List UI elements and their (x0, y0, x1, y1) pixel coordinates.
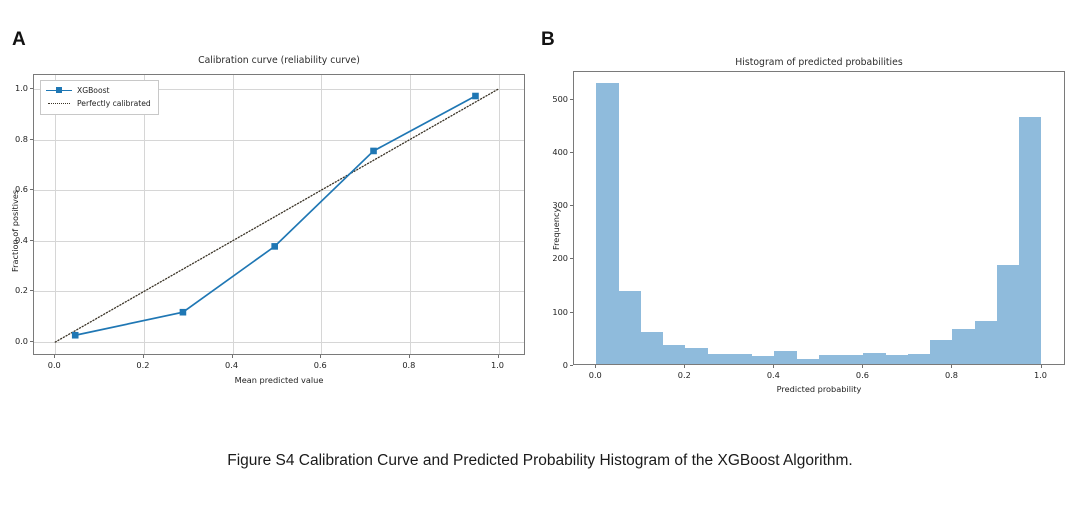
legend-label-perfectly-calibrated: Perfectly calibrated (77, 99, 151, 108)
histogram-bar-1 (619, 291, 641, 364)
histogram-bar-12 (863, 353, 885, 364)
panel-a-ytick-label-4: 0.8 (0, 134, 28, 144)
panel-a-ytick-label-1: 0.2 (0, 285, 28, 295)
panel-b-ytick-label-4: 400 (508, 147, 568, 157)
panel-b-xtick-label-1: 0.2 (654, 370, 714, 380)
reference-diagonal-line (55, 89, 498, 342)
panel-b-x-axis-label: Predicted probability (573, 384, 1065, 394)
panel-a-ytick-label-5: 1.0 (0, 83, 28, 93)
histogram-bar-18 (997, 265, 1019, 364)
panel-a-ytick-label-0: 0.0 (0, 336, 28, 346)
panel-b-ytick-label-2: 200 (508, 253, 568, 263)
xgboost-data-point-2 (271, 243, 278, 250)
panel-b-bars (574, 72, 1064, 364)
panel-a-xtick-mark-4 (409, 355, 410, 358)
panel-b-ytick-label-5: 500 (508, 94, 568, 104)
panel-b-ytick-mark-5 (570, 99, 573, 100)
legend-entry-perfectly-calibrated: Perfectly calibrated (46, 97, 151, 110)
panel-a-plot-area: XGBoost Perfectly calibrated (33, 74, 525, 355)
panel-a-xtick-mark-0 (54, 355, 55, 358)
histogram-bar-0 (596, 83, 618, 364)
legend-entry-xgboost: XGBoost (46, 84, 151, 97)
panel-label-a: A (12, 29, 26, 51)
panel-a-ytick-mark-2 (30, 240, 33, 241)
panel-b-ytick-mark-1 (570, 312, 573, 313)
legend-key-dotted-line-icon (46, 99, 72, 109)
panel-b-ytick-mark-0 (570, 365, 573, 366)
legend-key-line-marker-icon (46, 86, 72, 96)
panel-b-ytick-mark-3 (570, 205, 573, 206)
panel-a-xtick-mark-3 (320, 355, 321, 358)
panel-a-ytick-mark-1 (30, 290, 33, 291)
histogram-bar-5 (708, 354, 730, 364)
panel-b-xtick-label-4: 0.8 (921, 370, 981, 380)
histogram-bar-11 (841, 355, 863, 364)
panel-b-xtick-label-5: 1.0 (1011, 370, 1071, 380)
figure-root: A Calibration curve (reliability curve) … (0, 0, 1080, 507)
panel-a-legend: XGBoost Perfectly calibrated (40, 80, 159, 115)
panel-b-xtick-mark-2 (773, 365, 774, 368)
panel-b-xtick-mark-5 (1041, 365, 1042, 368)
panel-b-xtick-mark-3 (862, 365, 863, 368)
histogram-bar-10 (819, 355, 841, 364)
panel-a-xtick-label-4: 0.8 (379, 360, 439, 370)
panel-b-xtick-label-2: 0.4 (743, 370, 803, 380)
panel-b-ytick-mark-2 (570, 258, 573, 259)
xgboost-data-point-4 (472, 93, 479, 100)
panel-b-ytick-label-3: 300 (508, 200, 568, 210)
panel-b-xtick-label-3: 0.6 (832, 370, 892, 380)
panel-b-ytick-mark-4 (570, 152, 573, 153)
panel-a-title: Calibration curve (reliability curve) (33, 55, 525, 66)
panel-a-ytick-label-3: 0.6 (0, 184, 28, 194)
histogram-bar-14 (908, 354, 930, 364)
histogram-bar-7 (752, 356, 774, 364)
histogram-bar-6 (730, 354, 752, 364)
xgboost-data-point-1 (180, 309, 187, 316)
histogram-bar-9 (797, 359, 819, 364)
panel-a-ytick-mark-5 (30, 88, 33, 89)
histogram-bar-8 (774, 351, 796, 364)
panel-a-curves (34, 75, 526, 356)
panel-a-ytick-label-2: 0.4 (0, 235, 28, 245)
histogram-bar-3 (663, 345, 685, 364)
figure-caption: Figure S4 Calibration Curve and Predicte… (0, 452, 1080, 470)
panel-b-xtick-label-0: 0.0 (565, 370, 625, 380)
histogram-bar-2 (641, 332, 663, 364)
histogram-bar-15 (930, 340, 952, 364)
histogram-bar-16 (952, 329, 974, 364)
panel-b-ytick-label-1: 100 (508, 307, 568, 317)
panel-b-xtick-mark-4 (951, 365, 952, 368)
panel-b-title: Histogram of predicted probabilities (573, 57, 1065, 68)
panel-a-xtick-label-3: 0.6 (290, 360, 350, 370)
histogram-bar-13 (886, 355, 908, 364)
panel-a-x-axis-label: Mean predicted value (33, 375, 525, 385)
panel-a-xtick-mark-5 (498, 355, 499, 358)
panel-a-ytick-mark-4 (30, 139, 33, 140)
panel-b-y-axis-label: Frequency (551, 208, 561, 250)
panel-a-ytick-mark-3 (30, 189, 33, 190)
panel-a-xtick-label-0: 0.0 (24, 360, 84, 370)
xgboost-calibration-line (75, 96, 475, 335)
panel-b-ytick-label-0: 0 (508, 360, 568, 370)
panel-a-y-axis-label: Fraction of positives (10, 190, 20, 272)
xgboost-data-point-0 (72, 332, 79, 339)
panel-label-b: B (541, 29, 555, 51)
xgboost-data-point-3 (370, 148, 377, 155)
panel-b-xtick-mark-0 (595, 365, 596, 368)
panel-a-ytick-mark-0 (30, 341, 33, 342)
panel-a-xtick-mark-2 (232, 355, 233, 358)
panel-a-xtick-label-1: 0.2 (113, 360, 173, 370)
panel-b-plot-area (573, 71, 1065, 365)
histogram-bar-19 (1019, 117, 1041, 364)
panel-b-xtick-mark-1 (684, 365, 685, 368)
legend-label-xgboost: XGBoost (77, 86, 110, 95)
panel-a-xtick-label-2: 0.4 (202, 360, 262, 370)
panel-a-xtick-mark-1 (143, 355, 144, 358)
histogram-bar-17 (975, 321, 997, 364)
histogram-bar-4 (685, 348, 707, 365)
